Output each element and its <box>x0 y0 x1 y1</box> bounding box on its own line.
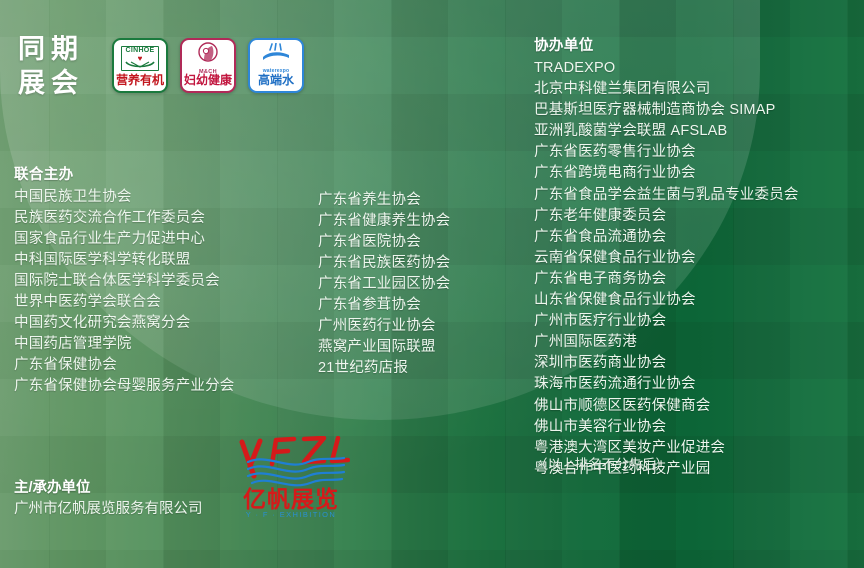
supporters-heading: 协办单位 <box>534 36 799 57</box>
list-item: 珠海市医药流通行业协会 <box>534 374 799 395</box>
list-item: 中国药文化研究会燕窝分会 <box>14 313 235 334</box>
list-item: 世界中医药学会联合会 <box>14 292 235 313</box>
list-item: 深圳市医药商业协会 <box>534 353 799 374</box>
list-item: 中科国际医学科学转化联盟 <box>14 250 235 271</box>
list-item: 中国民族卫生协会 <box>14 187 235 208</box>
organizer-name: 广州市亿帆展览服务有限公司 <box>14 499 203 520</box>
wave-lines-icon <box>248 458 344 485</box>
list-item: 燕窝产业国际联盟 <box>318 337 450 358</box>
page-title: 同期 展会 <box>18 32 84 100</box>
list-item: 21世纪药店报 <box>318 358 450 379</box>
list-item: 亚洲乳酸菌学会联盟 AFSLAB <box>534 121 799 142</box>
list-item: 广东省食品流通协会 <box>534 227 799 248</box>
list-item: 云南省保健食品行业协会 <box>534 248 799 269</box>
yfzl-initials-mark <box>242 438 348 476</box>
list-item: 国际院士联合体医学科学委员会 <box>14 271 235 292</box>
list-item: 广东省健康养生协会 <box>318 211 450 232</box>
poster-canvas: 同期 展会 CINHOE ♥ 营养有机 <box>0 0 864 568</box>
list-item: 广东省食品学会益生菌与乳品专业委员会 <box>534 185 799 206</box>
list-item: 民族医药交流合作工作委员会 <box>14 208 235 229</box>
co-host-section-column-2: 广东省养生协会 广东省健康养生协会 广东省医院协会 广东省民族医药协会 广东省工… <box>318 190 450 379</box>
list-item: 广东省参茸协会 <box>318 295 450 316</box>
ranking-note: （以上排名不分先后） <box>534 455 669 474</box>
water-splash-icon <box>261 43 291 63</box>
cinhoe-mark: CINHOE ♥ <box>116 43 164 74</box>
waterexpo-label: 高端水 <box>258 74 294 87</box>
list-item: 山东省保健食品行业协会 <box>534 290 799 311</box>
mch-mark: M&CH <box>184 43 232 74</box>
concurrent-expo-logos: CINHOE ♥ 营养有机 M&CH <box>112 38 304 93</box>
organizer-section: 主/承办单位 广州市亿帆展览服务有限公司 <box>14 478 203 520</box>
list-item: 巴基斯坦医疗器械制造商协会 SIMAP <box>534 100 799 121</box>
supporters-section: 协办单位 TRADEXPO 北京中科健兰集团有限公司 巴基斯坦医疗器械制造商协会… <box>534 36 799 480</box>
list-item: 佛山市顺德区医药保健商会 <box>534 396 799 417</box>
list-item: 广东省电子商务协会 <box>534 269 799 290</box>
list-item: 广东省工业园区协会 <box>318 274 450 295</box>
mother-child-icon <box>195 42 221 64</box>
list-item: 广东老年健康委员会 <box>534 206 799 227</box>
organizer-heading: 主/承办单位 <box>14 478 203 499</box>
list-item: 广州医药行业协会 <box>318 316 450 337</box>
mch-label: 妇幼健康 <box>184 74 232 87</box>
waterexpo-mark: waterexpo <box>252 43 300 74</box>
list-item: 佛山市美容行业协会 <box>534 417 799 438</box>
list-item: 广州市医疗行业协会 <box>534 311 799 332</box>
list-item: 广东省民族医药协会 <box>318 253 450 274</box>
co-host-heading: 联合主办 <box>14 165 235 186</box>
cinhoe-label: 营养有机 <box>116 74 164 87</box>
list-item: 广东省保健协会 <box>14 355 235 376</box>
list-item: 广东省保健协会母婴服务产业分会 <box>14 376 235 397</box>
mch-logo[interactable]: M&CH 妇幼健康 <box>180 38 236 93</box>
co-host-section: 联合主办 中国民族卫生协会 民族医药交流合作工作委员会 国家食品行业生产力促进中… <box>14 165 235 397</box>
list-item: 北京中科健兰集团有限公司 <box>534 79 799 100</box>
list-item: 广东省养生协会 <box>318 190 450 211</box>
yfzl-exhibition-logo[interactable]: 亿帆展览 Y · F · EXHIBITION <box>232 436 350 520</box>
list-item: TRADEXPO <box>534 58 799 79</box>
waterexpo-logo[interactable]: waterexpo 高端水 <box>248 38 304 93</box>
yfzl-tagline: Y · F · EXHIBITION <box>246 510 336 519</box>
cinhoe-logo[interactable]: CINHOE ♥ 营养有机 <box>112 38 168 93</box>
list-item: 广东省跨境电商行业协会 <box>534 163 799 184</box>
list-item: 中国药店管理学院 <box>14 334 235 355</box>
list-item: 广州国际医药港 <box>534 332 799 353</box>
list-item: 广东省医院协会 <box>318 232 450 253</box>
yfzl-chinese-name: 亿帆展览 <box>243 486 339 512</box>
list-item: 国家食品行业生产力促进中心 <box>14 229 235 250</box>
list-item: 广东省医药零售行业协会 <box>534 142 799 163</box>
